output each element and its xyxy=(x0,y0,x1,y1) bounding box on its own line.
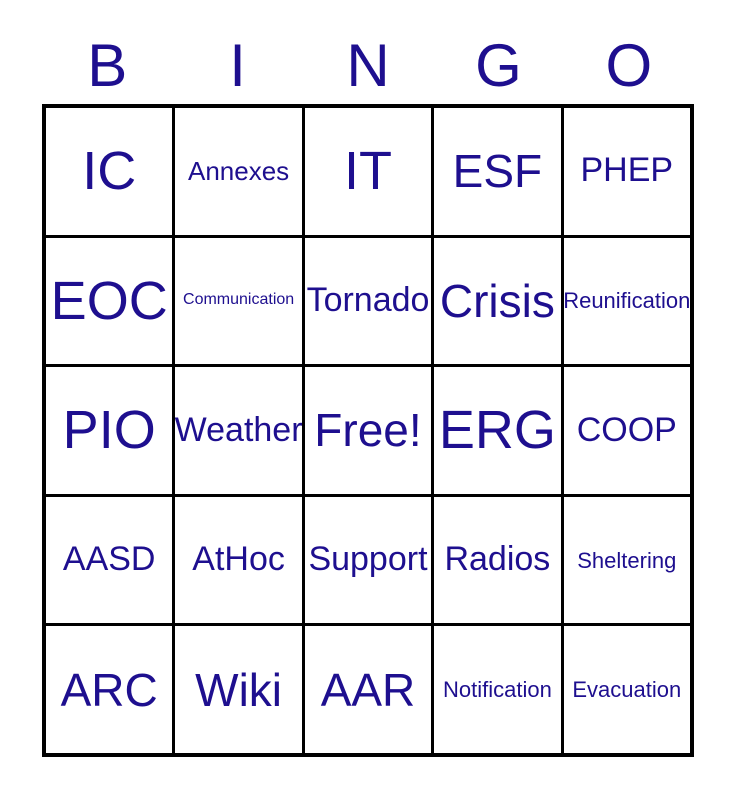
bingo-cell[interactable]: COOP xyxy=(564,367,690,494)
bingo-cell-label: COOP xyxy=(577,413,677,449)
bingo-cell[interactable]: Reunification xyxy=(564,238,690,365)
bingo-cell[interactable]: Radios xyxy=(434,497,560,624)
bingo-cell[interactable]: IT xyxy=(305,108,431,235)
bingo-header-row: B I N G O xyxy=(42,24,694,98)
bingo-cell-label: EOC xyxy=(51,273,168,330)
bingo-cell[interactable]: AASD xyxy=(46,497,172,624)
bingo-cell[interactable]: EOC xyxy=(46,238,172,365)
bingo-cell[interactable]: Sheltering xyxy=(564,497,690,624)
bingo-cell[interactable]: PIO xyxy=(46,367,172,494)
bingo-cell-label: IC xyxy=(82,143,136,200)
bingo-cell[interactable]: PHEP xyxy=(564,108,690,235)
header-letter-o: O xyxy=(564,34,694,98)
bingo-cell[interactable]: Evacuation xyxy=(564,626,690,753)
bingo-cell-label: Radios xyxy=(444,542,550,578)
bingo-cell[interactable]: Notification xyxy=(434,626,560,753)
bingo-grid: ICAnnexesITESFPHEPEOCCommunicationTornad… xyxy=(42,104,694,757)
bingo-cell[interactable]: ERG xyxy=(434,367,560,494)
bingo-cell[interactable]: ARC xyxy=(46,626,172,753)
header-letter-i: I xyxy=(172,34,302,98)
bingo-cell[interactable]: Annexes xyxy=(175,108,301,235)
bingo-cell-label: Communication xyxy=(183,292,294,309)
bingo-cell-label: ARC xyxy=(61,666,158,714)
bingo-cell[interactable]: Wiki xyxy=(175,626,301,753)
bingo-cell-label: Notification xyxy=(443,678,552,701)
bingo-cell-label: AASD xyxy=(63,542,156,578)
bingo-cell-label: Support xyxy=(308,542,427,578)
bingo-cell[interactable]: AAR xyxy=(305,626,431,753)
bingo-cell-label: PHEP xyxy=(581,153,674,189)
bingo-cell[interactable]: Weather xyxy=(175,367,301,494)
bingo-cell-label: Wiki xyxy=(195,666,282,714)
bingo-cell-label: ESF xyxy=(453,147,542,195)
bingo-cell-label: Sheltering xyxy=(577,549,676,572)
bingo-cell[interactable]: ESF xyxy=(434,108,560,235)
bingo-cell-label: ERG xyxy=(439,402,556,459)
bingo-cell-label: Weather xyxy=(175,413,301,449)
bingo-cell-label: PIO xyxy=(63,402,156,459)
bingo-cell[interactable]: AtHoc xyxy=(175,497,301,624)
bingo-cell-label: Annexes xyxy=(188,158,289,185)
bingo-cell-free[interactable]: Free! xyxy=(305,367,431,494)
bingo-card: B I N G O ICAnnexesITESFPHEPEOCCommunica… xyxy=(0,0,737,800)
header-letter-b: B xyxy=(42,34,172,98)
header-letter-n: N xyxy=(303,34,433,98)
bingo-cell-label: Reunification xyxy=(564,289,690,312)
bingo-cell[interactable]: Communication xyxy=(175,238,301,365)
header-letter-g: G xyxy=(433,34,563,98)
bingo-cell-label: AtHoc xyxy=(192,542,285,578)
bingo-cell[interactable]: Support xyxy=(305,497,431,624)
bingo-cell-label: Tornado xyxy=(307,283,430,319)
bingo-cell-label: Free! xyxy=(314,406,421,454)
bingo-cell-label: Evacuation xyxy=(572,678,681,701)
bingo-cell-label: Crisis xyxy=(440,277,555,325)
bingo-cell-label: IT xyxy=(344,143,392,200)
bingo-cell[interactable]: Tornado xyxy=(305,238,431,365)
bingo-cell[interactable]: Crisis xyxy=(434,238,560,365)
bingo-cell[interactable]: IC xyxy=(46,108,172,235)
bingo-cell-label: AAR xyxy=(321,666,416,714)
